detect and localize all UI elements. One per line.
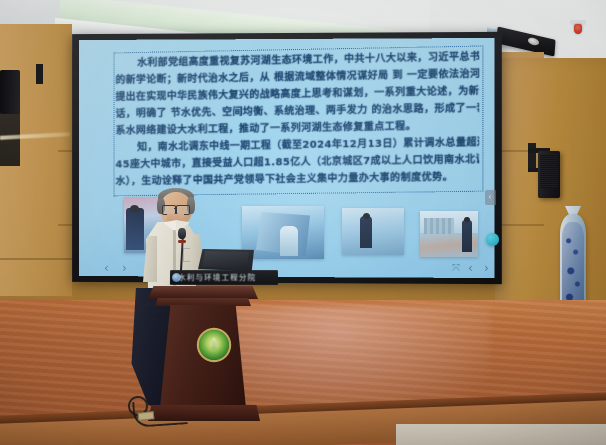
slide-next-button[interactable]: ›	[484, 262, 489, 274]
speaker-grille	[540, 154, 558, 188]
slide-accent-dot	[486, 233, 499, 246]
photo-figure	[280, 226, 298, 256]
photo-figure-head	[363, 213, 370, 219]
fullscreen-icon[interactable]: ⤧	[452, 263, 460, 275]
speaker-bracket	[36, 64, 43, 84]
photo-figure-head	[130, 205, 139, 212]
photo-skyline	[424, 218, 454, 234]
podium-body	[160, 305, 246, 408]
lower-floor	[396, 424, 606, 445]
fire-sprinkler-icon	[574, 24, 582, 34]
podium-top-surface	[148, 286, 258, 299]
photo-figure	[462, 220, 472, 252]
cable-tag	[138, 411, 155, 421]
wall-panel-seam	[0, 258, 72, 260]
photo-figure	[360, 216, 372, 248]
slide-next-button[interactable]: ›	[122, 262, 127, 274]
chevron-left-icon: ‹	[487, 193, 493, 201]
podium-nameplate-text: 水利与环境工程分院	[178, 273, 272, 283]
podium-collar	[155, 298, 251, 306]
slide-photo-figure-at-dam	[342, 208, 404, 255]
microphone-indicator	[178, 240, 186, 243]
slide-prev-button[interactable]: ‹	[468, 262, 473, 274]
microphone-icon[interactable]	[178, 228, 186, 239]
slide-body-text: 水利部党组高度重视复苏河湖生态环境工作，中共十八大以来，习近平总书记围绕国家水安…	[116, 49, 480, 193]
photo-figure-head	[464, 217, 470, 222]
wall-speaker-left	[0, 70, 20, 114]
speaker-bracket	[528, 143, 536, 169]
slide-prev-button[interactable]: ‹	[104, 262, 109, 274]
laptop-screen[interactable]	[202, 251, 249, 268]
presentation-photo: 水利部党组高度重视复苏河湖生态环境工作，中共十八大以来，习近平总书记围绕国家水安…	[0, 0, 606, 445]
eyeglasses-bridge	[174, 208, 177, 209]
slide-line: 水），生动诠释了中国共产党领导下社会主义集中力量办大事的制度优势。	[116, 169, 480, 191]
photo-figure	[126, 208, 144, 250]
